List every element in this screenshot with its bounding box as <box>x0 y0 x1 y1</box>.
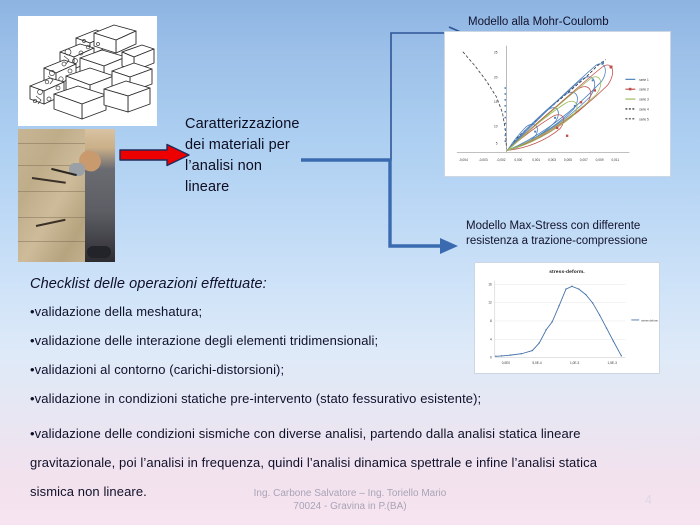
checklist-heading: Checklist delle operazioni effettuate: <box>30 274 630 294</box>
photo-worker-body <box>85 129 115 262</box>
checklist-item-text: validazione della meshatura; <box>35 304 203 319</box>
page-number: 4 <box>645 492 652 507</box>
svg-text:0,009: 0,009 <box>596 158 604 162</box>
caption-max-stress: Modello Max-Stress con differente resist… <box>466 219 671 249</box>
photo-mortar-line <box>18 143 90 144</box>
svg-text:0,005: 0,005 <box>564 158 572 162</box>
mohr-coulomb-chart-svg: 25 20 15 10 5 <box>445 32 670 176</box>
checklist-item: •validazione in condizioni statiche pre-… <box>30 390 630 408</box>
slide-canvas: Caratterizzazione dei materiali per l’an… <box>0 0 700 525</box>
photo-mortar-line <box>18 191 90 192</box>
svg-text:serie 4: serie 4 <box>639 107 649 111</box>
svg-text:25: 25 <box>494 51 498 55</box>
svg-text:serie 1: serie 1 <box>639 78 649 82</box>
masonry-drawing-svg <box>18 16 157 126</box>
svg-text:stress-deform.: stress-deform. <box>641 318 659 322</box>
checklist-block: Checklist delle operazioni effettuate: •… <box>30 274 630 506</box>
svg-text:-0,003: -0,003 <box>479 158 488 162</box>
footer-line-1: Ing. Carbone Salvatore – Ing. Toriello M… <box>0 487 700 500</box>
svg-text:-0,002: -0,002 <box>497 158 506 162</box>
checklist-item: •validazione delle interazione degli ele… <box>30 332 630 350</box>
svg-text:0,003: 0,003 <box>548 158 556 162</box>
svg-text:20: 20 <box>494 75 498 79</box>
svg-text:serie 3: serie 3 <box>639 98 649 102</box>
photo-mortar-line <box>18 217 90 218</box>
checklist-item: •validazione della meshatura; <box>30 303 630 321</box>
checklist-item-text: validazione delle interazione degli elem… <box>35 333 379 348</box>
checklist-item-text: validazione in condizioni statiche pre-i… <box>35 391 482 406</box>
svg-text:5: 5 <box>496 141 498 145</box>
svg-text:10: 10 <box>494 125 498 129</box>
photo-mortar-line <box>18 241 90 242</box>
photo-wall-surface <box>18 129 90 262</box>
svg-text:0,007: 0,007 <box>580 158 588 162</box>
footer-line-2: 70024 - Gravina in P.(BA) <box>0 500 700 513</box>
svg-text:0,001: 0,001 <box>532 158 540 162</box>
wall-testing-photo <box>18 129 115 262</box>
svg-text:0,011: 0,011 <box>612 158 620 162</box>
svg-text:-0,004: -0,004 <box>459 158 468 162</box>
masonry-wall-drawing <box>18 16 157 126</box>
photo-worker-shoe <box>87 246 111 258</box>
svg-text:15: 15 <box>494 100 498 104</box>
red-right-arrow-icon <box>119 143 191 167</box>
footer: Ing. Carbone Salvatore – Ing. Toriello M… <box>0 487 700 513</box>
svg-text:0,000: 0,000 <box>514 158 522 162</box>
checklist-item-text: validazioni al contorno (carichi-distors… <box>35 362 285 377</box>
svg-text:serie 5: serie 5 <box>639 117 649 121</box>
svg-text:serie 2: serie 2 <box>639 88 649 92</box>
checklist-item: •validazioni al contorno (carichi-distor… <box>30 361 630 379</box>
mohr-coulomb-chart: 25 20 15 10 5 <box>444 31 671 177</box>
caption-mohr-coulomb: Modello alla Mohr-Coulomb <box>468 15 688 30</box>
